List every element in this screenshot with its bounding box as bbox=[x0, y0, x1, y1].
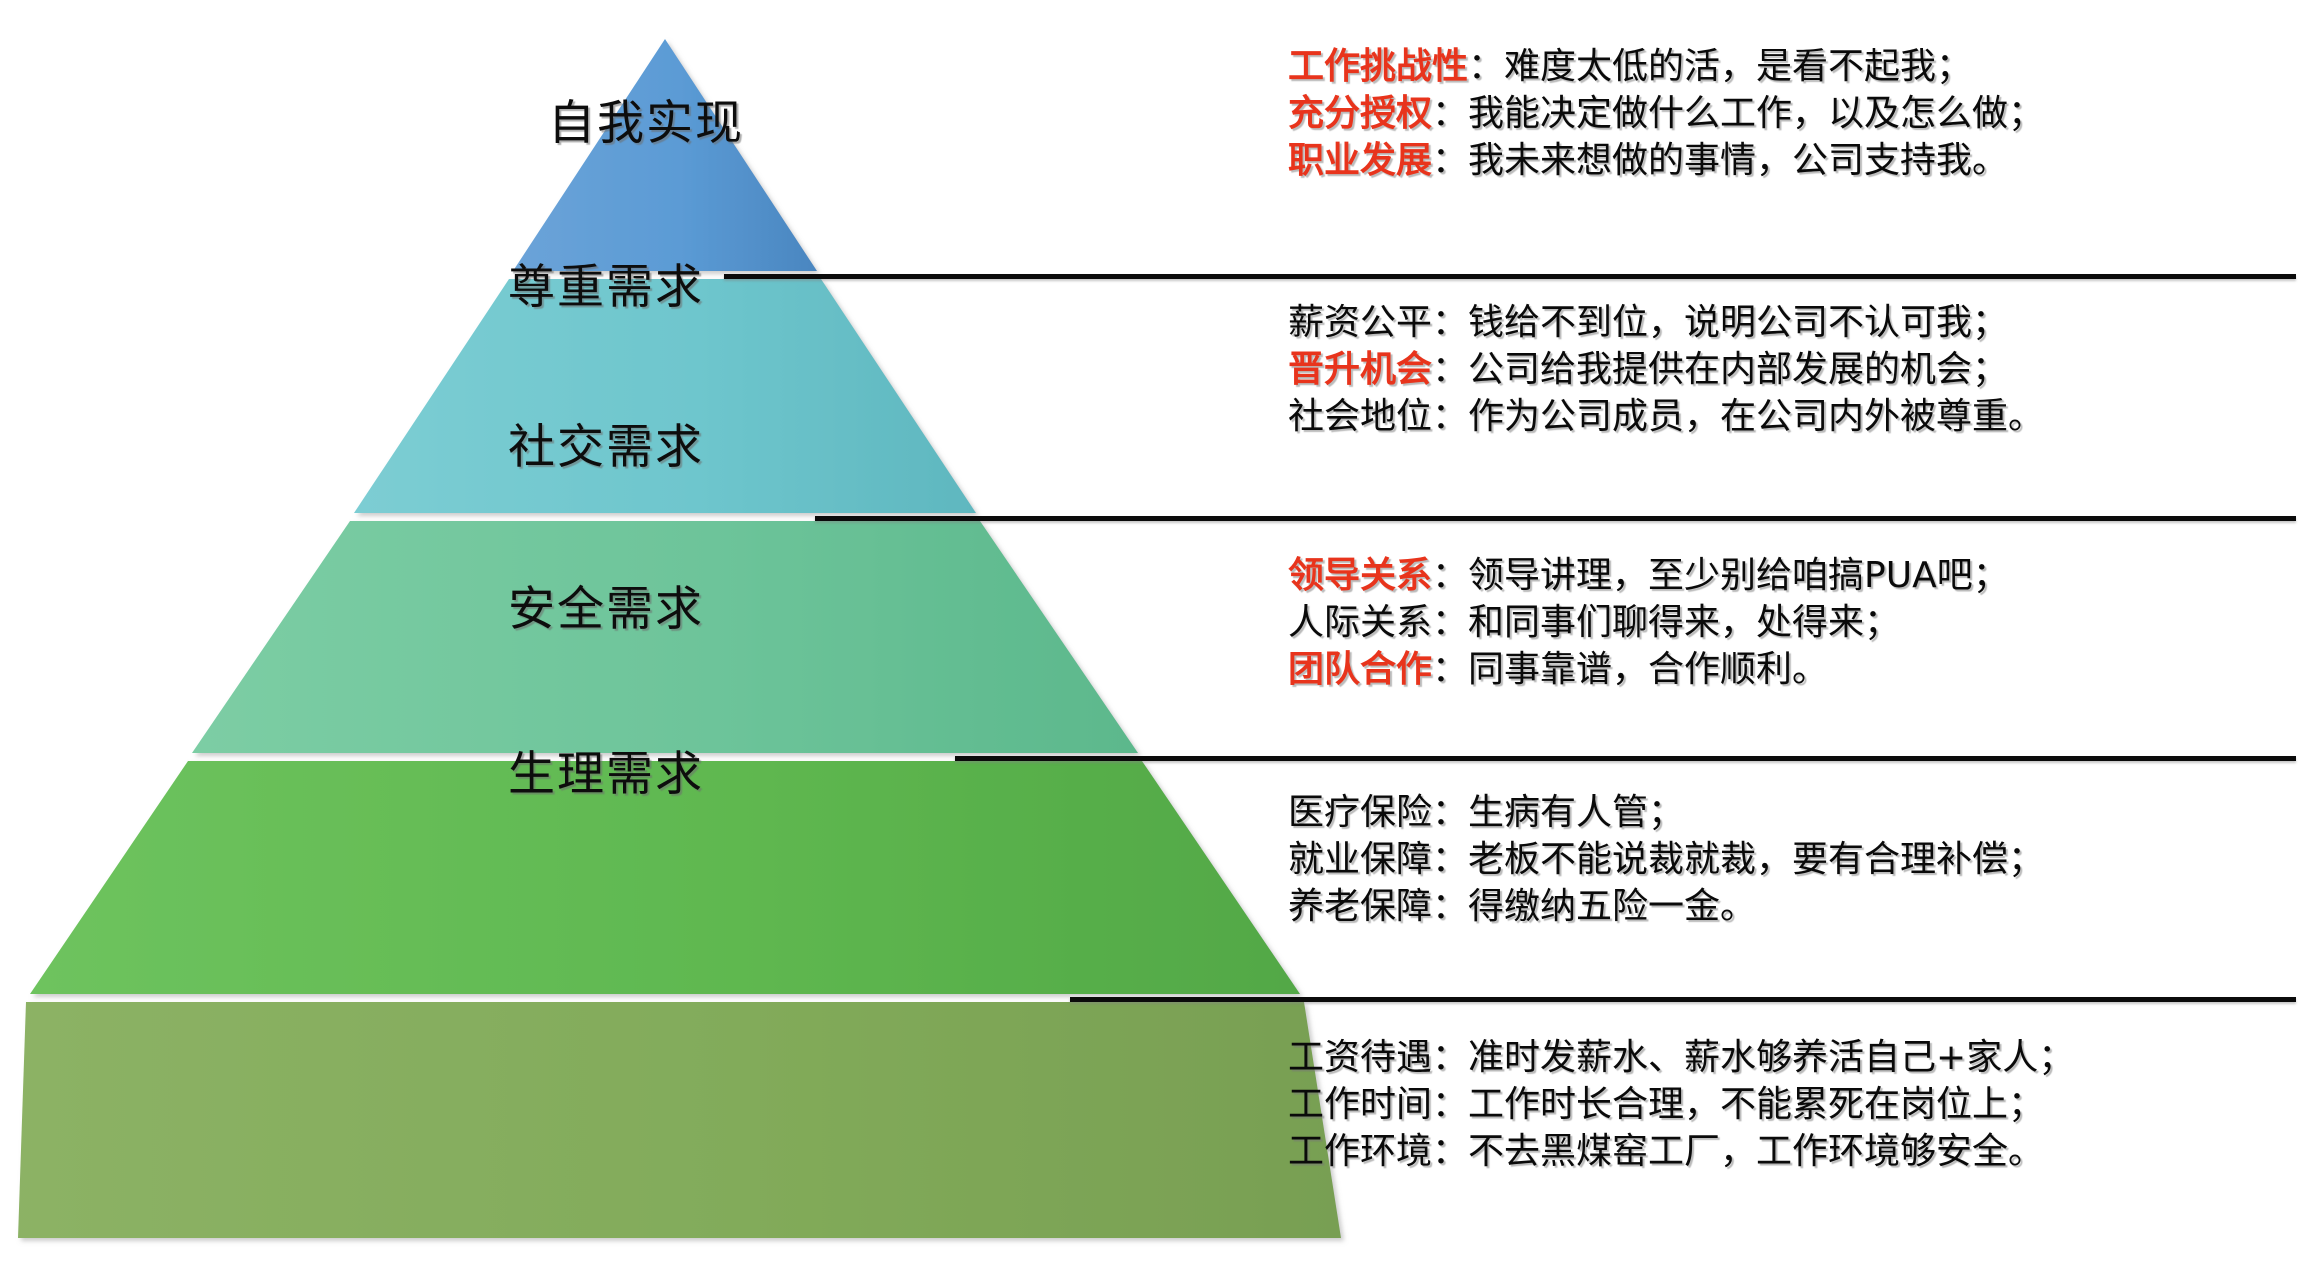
diagram-canvas: 自我实现 尊重需求 社交需求 安全需求 生理需求 工作挑战性：难度太低的活，是看… bbox=[0, 0, 2304, 1280]
detail-line: 领导关系：领导讲理，至少别给咱搞PUA吧； bbox=[1288, 553, 2288, 600]
detail-key: 社会地位 bbox=[1288, 396, 1432, 437]
detail-key: 医疗保险 bbox=[1288, 792, 1432, 833]
detail-key: 人际关系 bbox=[1288, 602, 1432, 643]
detail-key: 团队合作 bbox=[1288, 649, 1432, 690]
detail-sep: ： bbox=[1432, 140, 1468, 181]
detail-value: 和同事们聊得来，处得来； bbox=[1468, 602, 1900, 643]
detail-key: 薪资公平 bbox=[1288, 302, 1432, 343]
detail-key: 就业保障 bbox=[1288, 839, 1432, 880]
detail-line: 工作环境：不去黑煤窑工厂，工作环境够安全。 bbox=[1288, 1129, 2288, 1176]
detail-sep: ： bbox=[1432, 1037, 1468, 1078]
detail-block-self-actualization: 工作挑战性：难度太低的活，是看不起我； 充分授权：我能决定做什么工作，以及怎么做… bbox=[1288, 44, 2288, 184]
detail-key: 工作挑战性 bbox=[1288, 46, 1468, 87]
detail-line: 养老保障：得缴纳五险一金。 bbox=[1288, 884, 2288, 931]
detail-sep: ： bbox=[1432, 886, 1468, 927]
detail-sep: ： bbox=[1432, 93, 1468, 134]
detail-key: 充分授权 bbox=[1288, 93, 1432, 134]
detail-value: 钱给不到位，说明公司不认可我； bbox=[1468, 302, 2008, 343]
detail-line: 工作时间：工作时长合理，不能累死在岗位上； bbox=[1288, 1082, 2288, 1129]
detail-sep: ： bbox=[1432, 792, 1468, 833]
detail-block-safety: 医疗保险：生病有人管； 就业保障：老板不能说裁就裁，要有合理补偿； 养老保障：得… bbox=[1288, 790, 2288, 930]
detail-line: 职业发展：我未来想做的事情，公司支持我。 bbox=[1288, 138, 2288, 185]
detail-sep: ： bbox=[1468, 46, 1504, 87]
detail-value: 得缴纳五险一金。 bbox=[1468, 886, 1756, 927]
detail-value: 生病有人管； bbox=[1468, 792, 1684, 833]
detail-line: 工作挑战性：难度太低的活，是看不起我； bbox=[1288, 44, 2288, 91]
detail-key: 工作环境 bbox=[1288, 1131, 1432, 1172]
detail-value: 不去黑煤窑工厂，工作环境够安全。 bbox=[1468, 1131, 2044, 1172]
detail-key: 工资待遇 bbox=[1288, 1037, 1432, 1078]
pyramid-tier-4 bbox=[18, 1002, 1341, 1238]
detail-block-social: 领导关系：领导讲理，至少别给咱搞PUA吧； 人际关系：和同事们聊得来，处得来； … bbox=[1288, 553, 2288, 693]
detail-key: 工作时间 bbox=[1288, 1084, 1432, 1125]
divider-rule-2 bbox=[815, 516, 2296, 521]
detail-sep: ： bbox=[1432, 602, 1468, 643]
detail-value: 作为公司成员，在公司内外被尊重。 bbox=[1468, 396, 2044, 437]
divider-rule-3 bbox=[955, 756, 2296, 761]
detail-block-physiological: 工资待遇：准时发薪水、薪水够养活自己+家人； 工作时间：工作时长合理，不能累死在… bbox=[1288, 1035, 2288, 1175]
tier-label-esteem: 尊重需求 bbox=[508, 248, 704, 317]
detail-sep: ： bbox=[1432, 839, 1468, 880]
detail-value: 工作时长合理，不能累死在岗位上； bbox=[1468, 1084, 2044, 1125]
detail-sep: ： bbox=[1432, 302, 1468, 343]
detail-key: 晋升机会 bbox=[1288, 349, 1432, 390]
detail-value: 我能决定做什么工作，以及怎么做； bbox=[1468, 93, 2044, 134]
detail-sep: ： bbox=[1432, 555, 1468, 596]
tier-label-social: 社交需求 bbox=[508, 408, 704, 477]
detail-line: 社会地位：作为公司成员，在公司内外被尊重。 bbox=[1288, 394, 2288, 441]
tier-label-safety: 安全需求 bbox=[508, 570, 704, 639]
detail-value: 准时发薪水、薪水够养活自己+家人； bbox=[1468, 1037, 2074, 1078]
detail-key: 领导关系 bbox=[1288, 555, 1432, 596]
detail-line: 团队合作：同事靠谱，合作顺利。 bbox=[1288, 647, 2288, 694]
detail-key: 职业发展 bbox=[1288, 140, 1432, 181]
detail-line: 薪资公平：钱给不到位，说明公司不认可我； bbox=[1288, 300, 2288, 347]
detail-line: 人际关系：和同事们聊得来，处得来； bbox=[1288, 600, 2288, 647]
detail-value: 领导讲理，至少别给咱搞PUA吧； bbox=[1468, 555, 2009, 596]
pyramid-tier-0 bbox=[513, 39, 817, 271]
detail-value: 难度太低的活，是看不起我； bbox=[1504, 46, 1972, 87]
detail-sep: ： bbox=[1432, 649, 1468, 690]
detail-line: 医疗保险：生病有人管； bbox=[1288, 790, 2288, 837]
detail-value: 我未来想做的事情，公司支持我。 bbox=[1468, 140, 2008, 181]
tier-label-physiological: 生理需求 bbox=[508, 735, 704, 804]
divider-rule-4 bbox=[1070, 997, 2296, 1002]
detail-line: 工资待遇：准时发薪水、薪水够养活自己+家人； bbox=[1288, 1035, 2288, 1082]
detail-block-esteem: 薪资公平：钱给不到位，说明公司不认可我； 晋升机会：公司给我提供在内部发展的机会… bbox=[1288, 300, 2288, 440]
detail-sep: ： bbox=[1432, 1084, 1468, 1125]
divider-rule-1 bbox=[724, 274, 2296, 279]
detail-sep: ： bbox=[1432, 1131, 1468, 1172]
detail-key: 养老保障 bbox=[1288, 886, 1432, 927]
detail-value: 老板不能说裁就裁，要有合理补偿； bbox=[1468, 839, 2044, 880]
detail-sep: ： bbox=[1432, 396, 1468, 437]
detail-line: 充分授权：我能决定做什么工作，以及怎么做； bbox=[1288, 91, 2288, 138]
detail-line: 就业保障：老板不能说裁就裁，要有合理补偿； bbox=[1288, 837, 2288, 884]
detail-value: 公司给我提供在内部发展的机会； bbox=[1468, 349, 2008, 390]
detail-value: 同事靠谱，合作顺利。 bbox=[1468, 649, 1828, 690]
detail-line: 晋升机会：公司给我提供在内部发展的机会； bbox=[1288, 347, 2288, 394]
tier-label-self-actualization: 自我实现 bbox=[548, 84, 744, 153]
detail-sep: ： bbox=[1432, 349, 1468, 390]
